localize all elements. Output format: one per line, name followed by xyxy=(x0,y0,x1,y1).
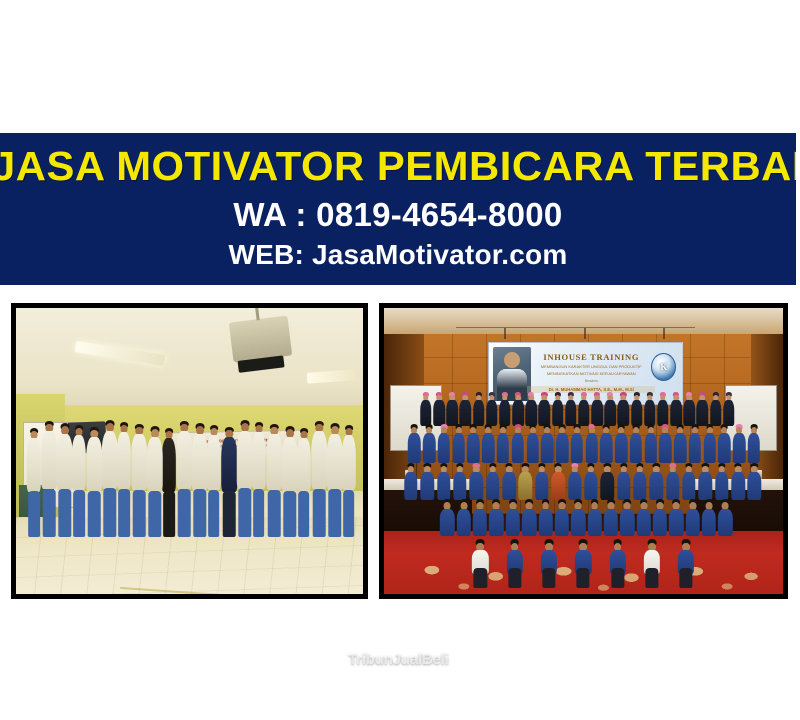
person-torso xyxy=(27,438,41,492)
person-torso xyxy=(252,432,266,489)
person-torso xyxy=(539,400,551,426)
person-torso xyxy=(633,472,646,500)
person-figure xyxy=(702,500,717,554)
person-torso xyxy=(267,434,282,490)
person-torso xyxy=(162,438,176,492)
person-torso xyxy=(327,434,344,491)
person-torso xyxy=(630,433,642,463)
person-torso xyxy=(453,472,466,500)
person-torso xyxy=(147,437,164,492)
person-legs xyxy=(163,491,175,536)
person-figure xyxy=(266,425,282,537)
person-figure xyxy=(116,423,131,537)
person-legs xyxy=(223,491,236,537)
person-torso xyxy=(512,400,524,426)
photo-left-training-room: Our People are Our Strength Menjadi Prib… xyxy=(11,303,368,599)
person-torso xyxy=(555,509,569,536)
person-figure xyxy=(678,540,695,588)
person-torso xyxy=(132,434,147,490)
person-torso xyxy=(522,509,536,536)
person-figure xyxy=(609,540,626,588)
person-torso xyxy=(697,400,709,426)
photo-right-ballroom: INHOUSE TRAINING MEMBANGUN KARAKTER UNGG… xyxy=(379,303,788,599)
person-torso xyxy=(584,472,597,500)
person-legs xyxy=(103,488,116,537)
person-torso xyxy=(657,400,669,426)
person-figure xyxy=(506,540,523,588)
person-torso xyxy=(620,509,634,536)
person-legs xyxy=(43,489,56,537)
person-figure xyxy=(522,500,537,554)
person-torso xyxy=(686,509,700,536)
person-legs xyxy=(542,568,555,588)
person-torso xyxy=(499,400,511,426)
person-torso xyxy=(682,472,695,500)
person-legs xyxy=(680,568,693,588)
person-torso xyxy=(452,433,464,463)
person-torso xyxy=(512,433,524,463)
person-torso xyxy=(631,400,643,426)
person-torso xyxy=(117,432,131,489)
person-torso xyxy=(312,431,327,489)
person-torso xyxy=(689,433,701,463)
person-figure xyxy=(404,464,418,520)
person-torso xyxy=(731,472,744,500)
header-banner: JASA MOTIVATOR PEMBICARA TERBAIK WA : 08… xyxy=(0,133,796,285)
person-figure xyxy=(101,421,118,537)
person-torso xyxy=(423,433,435,463)
person-figure xyxy=(56,424,73,537)
person-torso xyxy=(535,472,548,500)
person-figure xyxy=(206,426,221,537)
person-figure xyxy=(131,425,147,537)
poster-title: JASA MOTIVATOR PEMBICARA TERBAIK xyxy=(0,142,796,190)
person-torso xyxy=(715,472,728,500)
person-torso xyxy=(659,433,671,463)
person-torso xyxy=(437,472,450,500)
person-torso xyxy=(222,437,237,492)
person-legs xyxy=(328,489,341,536)
person-legs xyxy=(645,568,658,588)
person-figure xyxy=(71,426,86,537)
person-torso xyxy=(565,400,577,426)
person-torso xyxy=(556,433,568,463)
person-legs xyxy=(343,490,355,537)
person-torso xyxy=(636,509,650,536)
person-legs xyxy=(238,488,251,537)
person-torso xyxy=(591,400,603,426)
person-torso xyxy=(408,433,420,463)
person-legs xyxy=(118,489,130,537)
person-torso xyxy=(710,400,722,426)
person-torso xyxy=(650,472,663,500)
person-torso xyxy=(541,433,553,463)
person-legs xyxy=(508,568,521,588)
person-torso xyxy=(237,431,254,489)
person-torso xyxy=(683,400,695,426)
person-torso xyxy=(446,400,458,426)
person-torso xyxy=(604,400,616,426)
person-figure xyxy=(326,424,343,537)
person-torso xyxy=(207,435,221,491)
person-torso xyxy=(87,437,102,492)
photo-gallery: Our People are Our Strength Menjadi Prib… xyxy=(0,303,800,603)
person-legs xyxy=(73,490,85,537)
person-torso xyxy=(718,433,730,463)
person-legs xyxy=(283,491,296,537)
person-torso xyxy=(538,509,552,536)
top-margin xyxy=(0,0,800,133)
person-figure xyxy=(26,429,41,537)
person-torso xyxy=(585,433,597,463)
person-torso xyxy=(460,400,472,426)
person-torso xyxy=(486,472,499,500)
photo-left-content: Our People are Our Strength Menjadi Prib… xyxy=(16,308,363,594)
person-torso xyxy=(342,435,356,491)
person-figure xyxy=(221,428,237,537)
person-legs xyxy=(268,490,281,537)
person-torso xyxy=(578,400,590,426)
person-torso xyxy=(297,438,311,492)
person-figure xyxy=(176,422,192,537)
person-torso xyxy=(615,433,627,463)
person-figure xyxy=(747,464,761,520)
person-torso xyxy=(699,472,712,500)
person-torso xyxy=(748,472,761,500)
person-torso xyxy=(526,433,538,463)
person-figure xyxy=(146,427,163,537)
person-figure xyxy=(296,429,311,537)
person-torso xyxy=(72,435,86,491)
whatsapp-contact-line: WA : 0819-4654-8000 xyxy=(0,195,796,235)
person-figure xyxy=(420,464,434,520)
person-torso xyxy=(457,509,471,536)
person-figure xyxy=(236,421,253,537)
person-legs xyxy=(208,490,220,537)
person-legs xyxy=(611,568,624,588)
person-torso xyxy=(440,509,454,536)
person-torso xyxy=(670,400,682,426)
person-legs xyxy=(133,490,146,537)
person-figure xyxy=(440,500,455,554)
person-torso xyxy=(438,433,450,463)
photo-right-content: INHOUSE TRAINING MEMBANGUN KARAKTER UNGG… xyxy=(384,308,783,594)
person-legs xyxy=(253,489,265,537)
person-torso xyxy=(519,472,532,500)
person-legs xyxy=(28,491,40,536)
participants-group-right xyxy=(384,308,783,594)
person-torso xyxy=(502,472,515,500)
person-figure xyxy=(41,422,57,537)
person-torso xyxy=(601,472,614,500)
person-torso xyxy=(551,472,564,500)
person-torso xyxy=(482,433,494,463)
person-torso xyxy=(604,509,618,536)
person-torso xyxy=(177,431,192,489)
person-torso xyxy=(102,431,119,489)
person-torso xyxy=(666,472,679,500)
person-torso xyxy=(571,509,585,536)
person-torso xyxy=(587,509,601,536)
person-figure xyxy=(161,429,176,537)
person-torso xyxy=(723,400,735,426)
person-torso xyxy=(282,437,299,492)
person-torso xyxy=(617,472,630,500)
person-legs xyxy=(88,491,101,537)
person-torso xyxy=(42,431,57,489)
person-torso xyxy=(600,433,612,463)
person-torso xyxy=(618,400,630,426)
person-torso xyxy=(433,400,445,426)
person-torso xyxy=(486,400,498,426)
person-figure xyxy=(191,424,208,537)
person-torso xyxy=(571,433,583,463)
person-figure xyxy=(341,426,356,537)
person-torso xyxy=(669,509,683,536)
person-torso xyxy=(525,400,537,426)
person-figure xyxy=(731,464,745,520)
person-torso xyxy=(718,509,732,536)
person-torso xyxy=(192,434,209,491)
person-figure xyxy=(575,540,592,588)
person-torso xyxy=(421,472,434,500)
person-torso xyxy=(420,400,432,426)
person-torso xyxy=(703,433,715,463)
person-figure xyxy=(472,540,489,588)
person-torso xyxy=(473,509,487,536)
person-torso xyxy=(497,433,509,463)
poster-canvas: JASA MOTIVATOR PEMBICARA TERBAIK WA : 08… xyxy=(0,0,800,720)
person-figure xyxy=(643,540,660,588)
person-figure xyxy=(456,500,471,554)
person-legs xyxy=(58,489,71,536)
person-figure xyxy=(540,540,557,588)
website-contact-line: WEB: JasaMotivator.com xyxy=(0,238,796,272)
person-torso xyxy=(702,509,716,536)
person-figure xyxy=(311,422,327,537)
person-legs xyxy=(178,489,191,537)
person-legs xyxy=(577,568,590,588)
person-torso xyxy=(467,433,479,463)
person-torso xyxy=(470,472,483,500)
person-figure xyxy=(718,500,733,554)
person-legs xyxy=(148,491,161,537)
person-torso xyxy=(552,400,564,426)
person-figure xyxy=(86,428,102,537)
person-torso xyxy=(748,433,760,463)
person-torso xyxy=(644,400,656,426)
person-legs xyxy=(313,489,326,537)
person-torso xyxy=(57,434,74,491)
participants-group-left xyxy=(16,308,363,594)
person-torso xyxy=(473,400,485,426)
person-legs xyxy=(298,491,310,536)
person-torso xyxy=(644,433,656,463)
person-figure xyxy=(489,500,504,554)
person-legs xyxy=(193,489,206,536)
person-torso xyxy=(733,433,745,463)
person-figure xyxy=(251,423,266,537)
bottom-margin xyxy=(0,603,800,720)
person-torso xyxy=(674,433,686,463)
person-torso xyxy=(404,472,417,500)
person-legs xyxy=(474,568,487,588)
person-torso xyxy=(489,509,503,536)
person-figure xyxy=(281,427,298,537)
person-torso xyxy=(506,509,520,536)
person-torso xyxy=(568,472,581,500)
person-torso xyxy=(653,509,667,536)
